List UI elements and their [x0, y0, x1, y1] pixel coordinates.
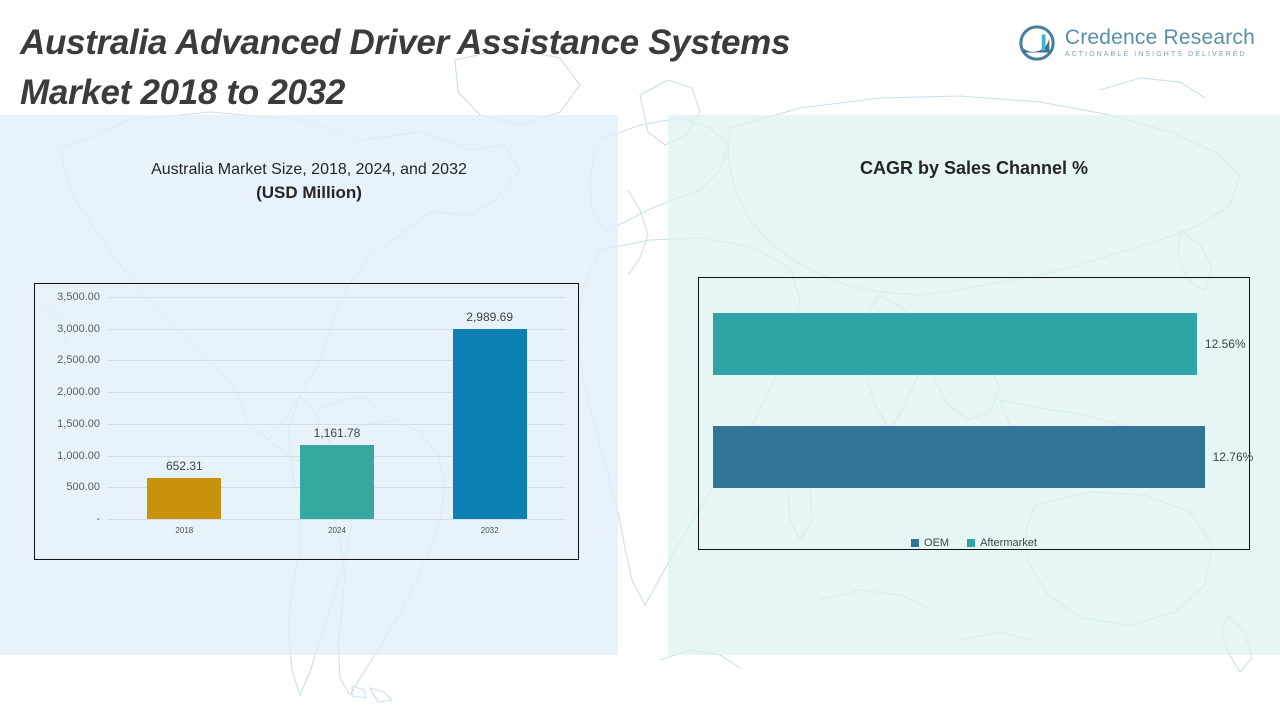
y-axis-tick-label: 2,500.00 — [57, 354, 100, 366]
bar-oem: 12.76% — [713, 426, 1205, 488]
left-chart-subtitle: Australia Market Size, 2018, 2024, and 2… — [0, 159, 618, 181]
plot-area: 12.56%12.76% — [713, 288, 1237, 513]
bar-value-label: 12.76% — [1213, 450, 1254, 464]
y-axis-tick-label: 2,000.00 — [57, 386, 100, 398]
logo-tagline: Actionable Insights Delivered — [1065, 49, 1255, 60]
bar-aftermarket: 12.56% — [713, 313, 1197, 375]
bar-2024: 1,161.782024 — [300, 445, 374, 519]
chart-legend: OEMAftermarket — [699, 537, 1249, 549]
legend-swatch-icon — [911, 539, 919, 547]
gridline: - — [108, 519, 566, 520]
left-chart-title: (USD Million) — [0, 181, 618, 205]
y-axis-tick-label: 500.00 — [66, 481, 100, 493]
header: Australia Advanced Driver Assistance Sys… — [0, 0, 1280, 115]
bar-value-label: 2,989.69 — [466, 310, 513, 324]
bar-value-label: 652.31 — [166, 459, 203, 473]
legend-label: OEM — [924, 537, 949, 549]
y-axis-tick-label: 3,000.00 — [57, 323, 100, 335]
y-axis-tick-label: 3,500.00 — [57, 291, 100, 303]
legend-swatch-icon — [967, 539, 975, 547]
legend-item-aftermarket[interactable]: Aftermarket — [967, 537, 1037, 549]
brand-logo: Credence Research Actionable Insights De… — [1018, 24, 1255, 62]
plot-area: -500.001,000.001,500.002,000.002,500.003… — [108, 297, 566, 519]
gridline: 3,500.00 — [108, 297, 566, 298]
bar-2018: 652.312018 — [147, 478, 221, 519]
x-axis-tick-label: 2032 — [481, 526, 499, 535]
cagr-by-sales-channel-chart: 12.56%12.76% OEMAftermarket — [698, 277, 1250, 550]
bar-value-label: 1,161.78 — [314, 426, 361, 440]
logo-name: Credence Research — [1065, 27, 1255, 49]
legend-item-oem[interactable]: OEM — [911, 537, 949, 549]
x-axis-tick-label: 2024 — [328, 526, 346, 535]
legend-label: Aftermarket — [980, 537, 1037, 549]
y-axis-tick-label: 1,500.00 — [57, 418, 100, 430]
y-axis-tick-label: 1,000.00 — [57, 450, 100, 462]
y-axis-tick-label: - — [96, 513, 100, 525]
bar-2032: 2,989.692032 — [453, 329, 527, 519]
australia-market-size-chart: -500.001,000.001,500.002,000.002,500.003… — [34, 283, 579, 560]
infographic-page: Australia Advanced Driver Assistance Sys… — [0, 0, 1280, 720]
right-chart-title: CAGR by Sales Channel % — [668, 155, 1280, 181]
logo-text-block: Credence Research Actionable Insights De… — [1065, 27, 1255, 60]
bar-value-label: 12.56% — [1205, 337, 1246, 351]
x-axis-tick-label: 2018 — [175, 526, 193, 535]
bar-chart-circle-icon — [1018, 24, 1056, 62]
page-title: Australia Advanced Driver Assistance Sys… — [20, 18, 1010, 118]
